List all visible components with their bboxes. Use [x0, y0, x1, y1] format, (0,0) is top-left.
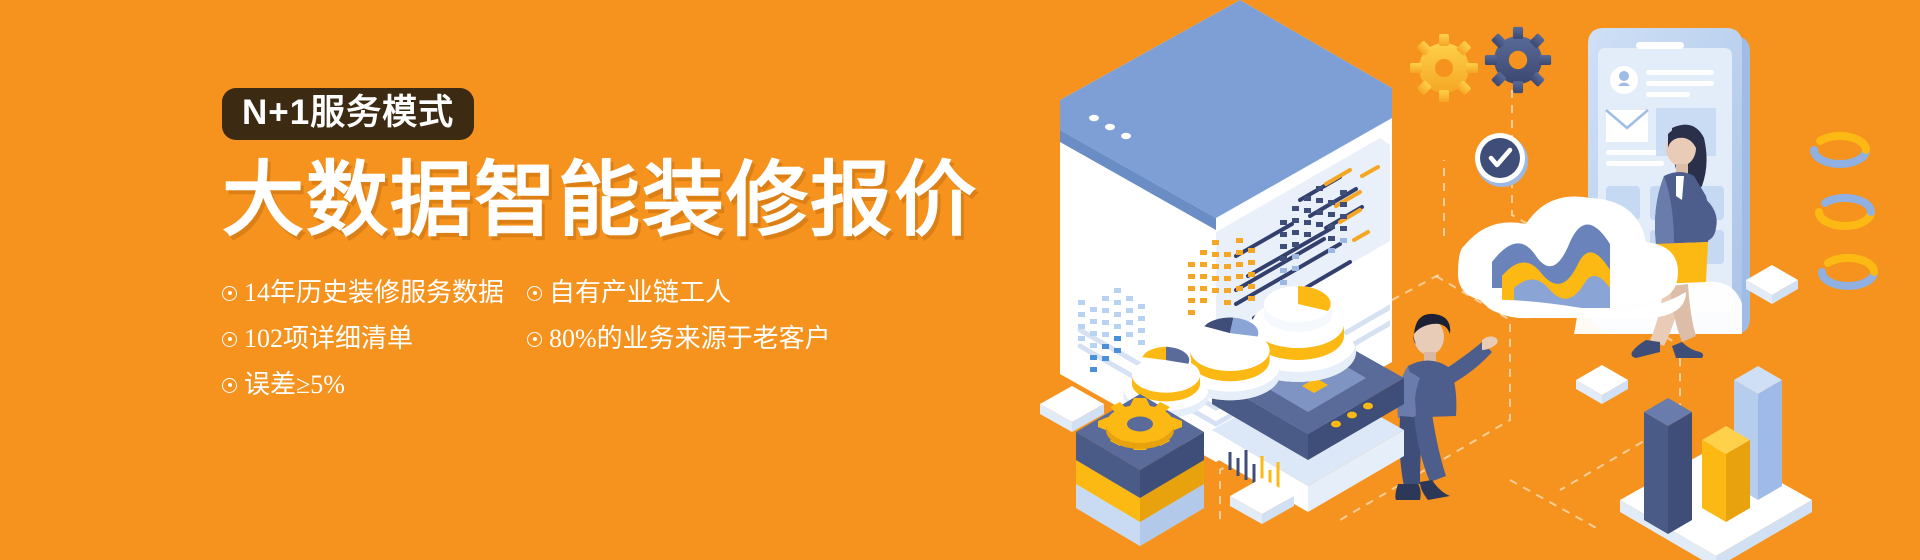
bullet-column-right: 自有产业链工人 80%的业务来源于老客户 [527, 270, 857, 408]
page-title: 大数据智能装修报价 [222, 158, 982, 244]
list-item: 误差≥5% [222, 362, 527, 408]
list-item: 102项详细清单 [222, 316, 527, 362]
service-mode-badge: N+1服务模式 [222, 88, 474, 140]
list-item-label: 14年历史装修服务数据 [244, 280, 504, 306]
bullet-column-left: 14年历史装修服务数据 102项详细清单 误差≥5% [222, 270, 527, 408]
banner-text-block: N+1服务模式 大数据智能装修报价 14年历史装修服务数据 102项详细清单 误… [222, 88, 982, 408]
promo-banner: N+1服务模式 大数据智能装修报价 14年历史装修服务数据 102项详细清单 误… [0, 0, 1920, 560]
list-item-label: 自有产业链工人 [549, 280, 731, 306]
gear-blue-icon [1485, 27, 1551, 93]
bar-chart-3d [1620, 366, 1812, 560]
circled-dot-icon [527, 286, 542, 301]
circled-dot-icon [527, 332, 542, 347]
circled-dot-icon [222, 286, 237, 301]
rotation-rings-icon [1814, 136, 1874, 286]
list-item-label: 误差≥5% [244, 372, 345, 398]
circled-dot-icon [222, 332, 237, 347]
gear-yellow-icon [1410, 34, 1478, 102]
list-item: 自有产业链工人 [527, 270, 857, 316]
list-item: 80%的业务来源于老客户 [527, 316, 857, 362]
circled-dot-icon [222, 378, 237, 393]
list-item-label: 80%的业务来源于老客户 [549, 326, 831, 352]
feature-bullet-list: 14年历史装修服务数据 102项详细清单 误差≥5% 自有产业链工人 [222, 270, 862, 408]
businessman-figure [1395, 314, 1497, 500]
list-item: 14年历史装修服务数据 [222, 270, 527, 316]
check-badge-icon [1475, 133, 1528, 187]
isometric-big-data-illustration [1040, 0, 1920, 560]
list-item-label: 102项详细清单 [244, 326, 413, 352]
